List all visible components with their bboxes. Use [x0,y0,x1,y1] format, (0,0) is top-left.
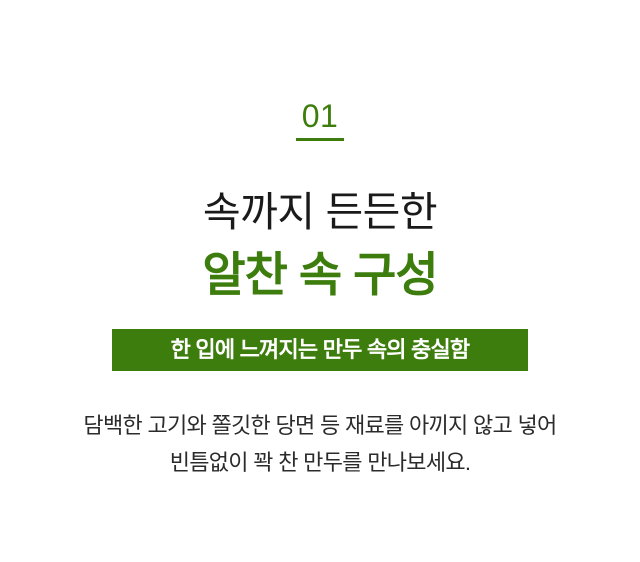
body-line: 빈틈없이 꽉 찬 만두를 만나보세요. [83,444,556,481]
step-number: 01 [302,99,339,133]
banner-text: 한 입에 느껴지는 만두 속의 충실함 [171,338,470,362]
headline-primary: 속까지 든든한 [203,189,437,235]
step-underline-rule [296,138,344,141]
body-copy: 담백한 고기와 쫄깃한 당면 등 재료를 아끼지 않고 넣어 빈틈없이 꽉 찬 … [83,407,556,481]
headline-accent: 알찬 속 구성 [202,249,437,301]
banner-bar: 한 입에 느껴지는 만두 속의 충실함 [112,329,528,371]
promo-panel: 01 속까지 든든한 알찬 속 구성 한 입에 느껴지는 만두 속의 충실함 담… [0,0,640,562]
step-indicator: 01 [296,99,344,141]
body-line: 담백한 고기와 쫄깃한 당면 등 재료를 아끼지 않고 넣어 [83,407,556,444]
